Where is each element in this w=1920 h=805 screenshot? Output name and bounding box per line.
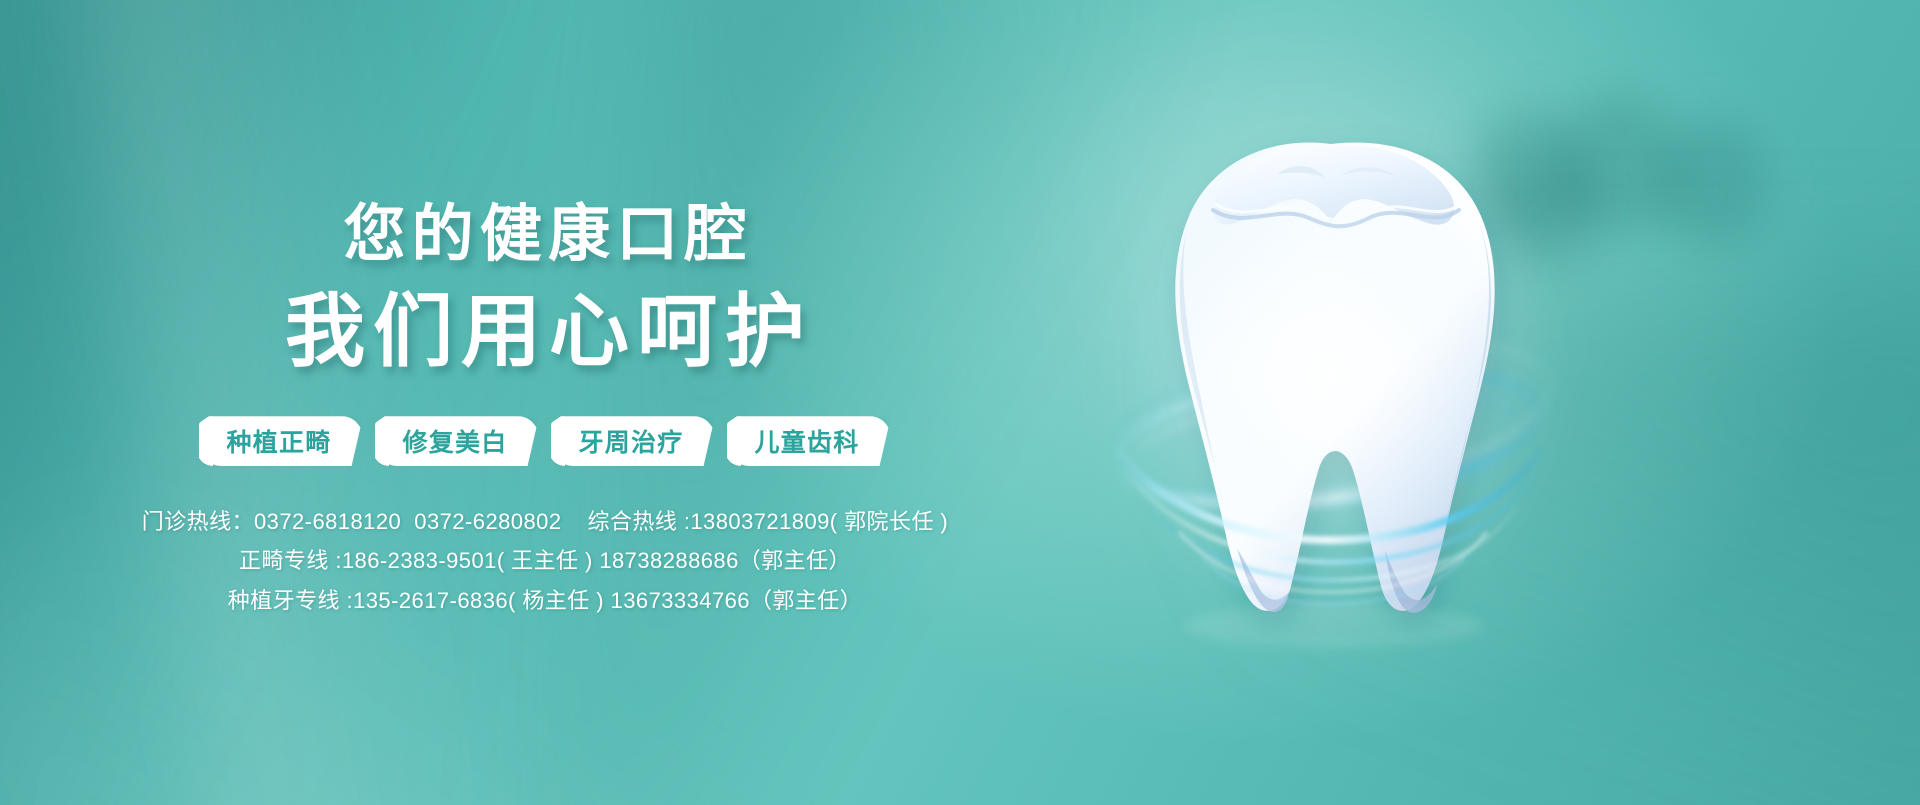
- service-tag-restoration-whitening[interactable]: 修复美白: [375, 416, 539, 466]
- headline-line-2: 我们用心呵护: [277, 292, 813, 372]
- service-tag-label: 儿童齿科: [754, 423, 859, 459]
- service-tag-label: 种植正畸: [226, 423, 331, 459]
- service-tag-periodontal-treatment[interactable]: 牙周治疗: [551, 416, 715, 466]
- contact-line-clinic-hotline: 门诊热线：0372-6818120 0372-6280802综合热线 :1380…: [142, 510, 948, 534]
- service-tag-pediatric-dentistry[interactable]: 儿童齿科: [727, 416, 891, 466]
- general-hotline-label: 综合热线 :: [588, 509, 691, 534]
- tooth-illustration: [1095, 118, 1565, 678]
- service-tag-label: 牙周治疗: [578, 423, 683, 459]
- service-tag-list: 种植正畸 修复美白 牙周治疗 儿童齿科: [199, 416, 891, 466]
- contact-line-orthodontics[interactable]: 正畸专线 :186-2383-9501( 王主任 ) 18738288686（郭…: [239, 549, 851, 573]
- dental-clinic-banner: 您的健康口腔 我们用心呵护 种植正畸 修复美白 牙周治疗 儿童齿科 门诊热线：0…: [0, 0, 1920, 805]
- molar-tooth-icon: [1095, 118, 1565, 678]
- clinic-hotline-label: 门诊热线：: [142, 509, 254, 534]
- blurred-teeth-background-icon: [1549, 86, 1691, 237]
- contact-info-block: 门诊热线：0372-6818120 0372-6280802综合热线 :1380…: [142, 510, 948, 613]
- general-hotline-phone[interactable]: 13803721809( 郭院长任 ): [690, 509, 948, 534]
- clinic-hotline-phone-2[interactable]: 0372-6280802: [414, 509, 561, 534]
- service-tag-label: 修复美白: [402, 423, 507, 459]
- headline-line-1: 您的健康口腔: [337, 204, 752, 266]
- clinic-hotline-phone-1[interactable]: 0372-6818120: [254, 509, 401, 534]
- blurred-teeth-background-icon: [1652, 112, 1776, 247]
- banner-content-column: 您的健康口腔 我们用心呵护 种植正畸 修复美白 牙周治疗 儿童齿科 门诊热线：0…: [0, 0, 1090, 805]
- contact-line-dental-implant[interactable]: 种植牙专线 :135-2617-6836( 杨主任 ) 13673334766（…: [228, 589, 862, 613]
- service-tag-implant-orthodontics[interactable]: 种植正畸: [199, 416, 363, 466]
